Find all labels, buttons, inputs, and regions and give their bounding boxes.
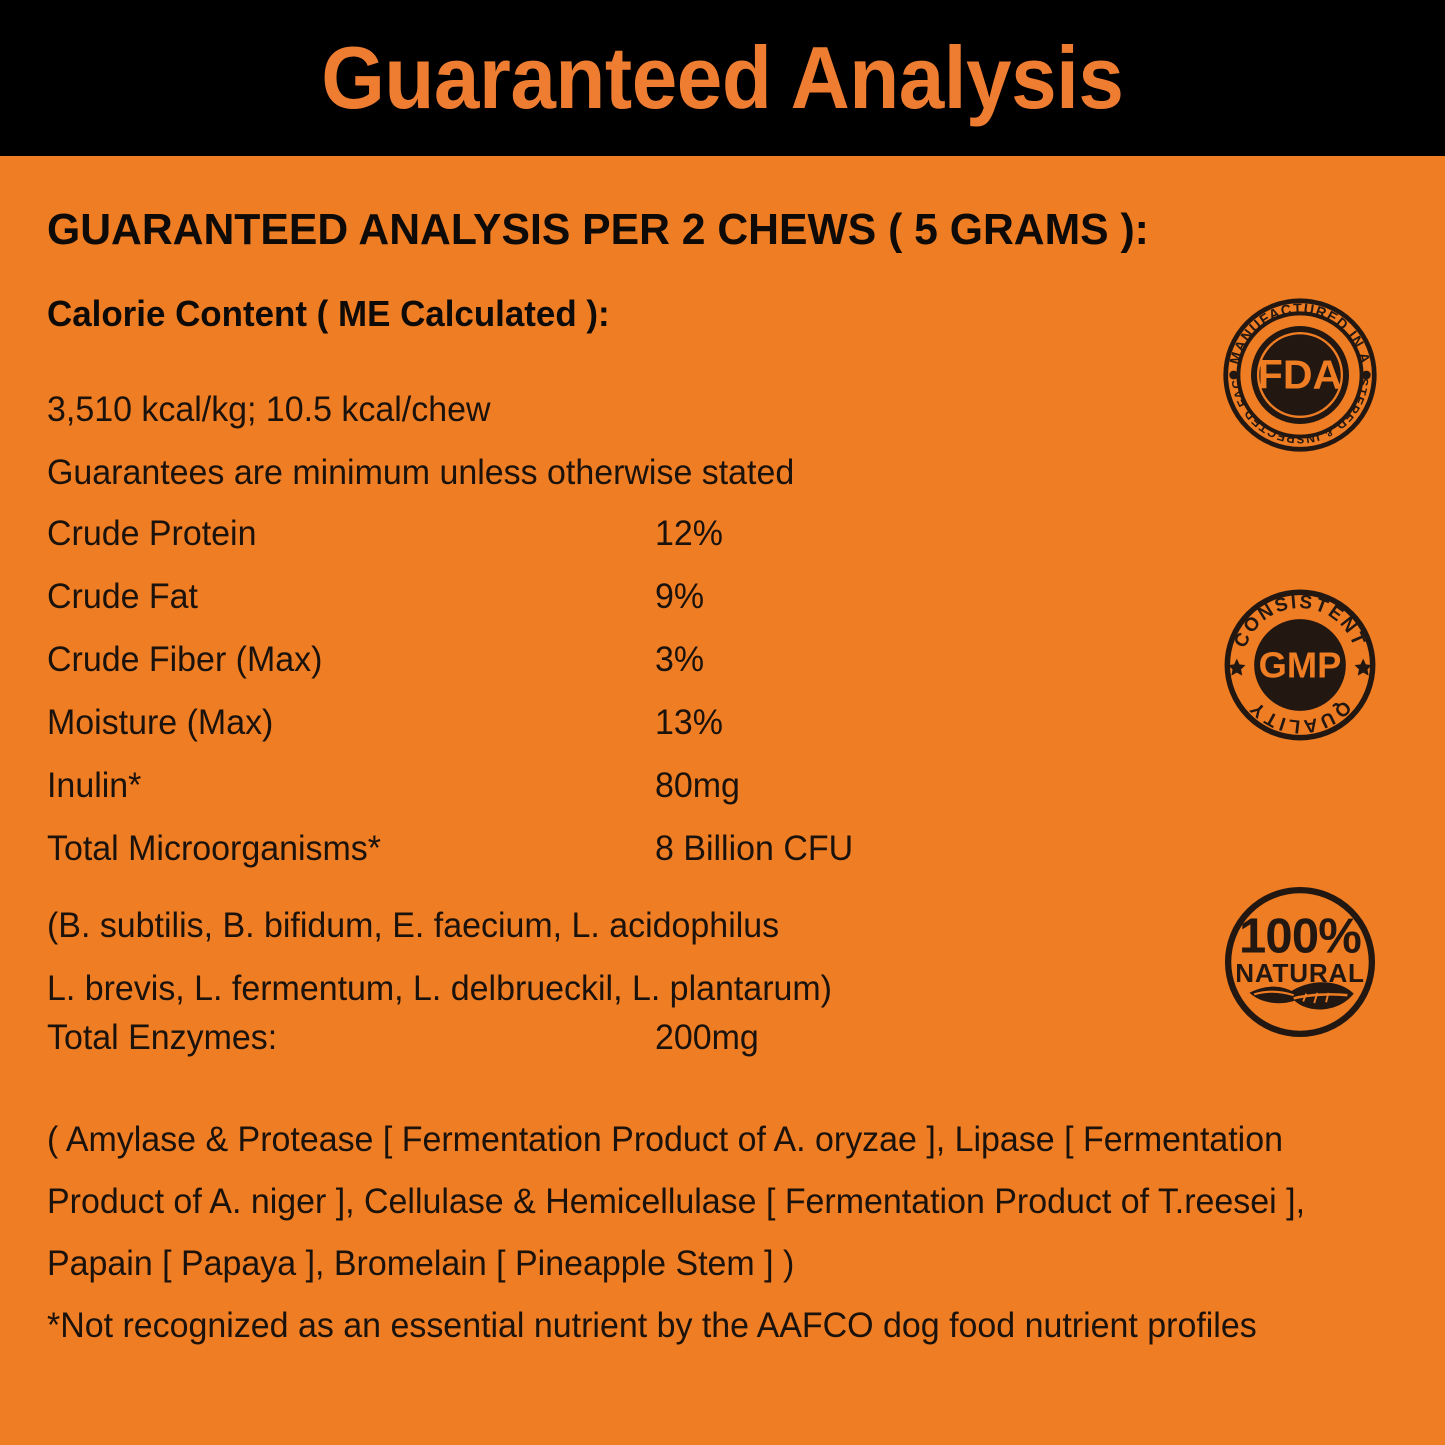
table-row: Moisture (Max) 13%	[47, 705, 1182, 768]
nutrient-value: 13%	[655, 705, 723, 740]
microorganism-strain-list: (B. subtilis, B. bifidum, E. faecium, L.…	[47, 894, 1182, 1020]
nutrient-name: Crude Protein	[47, 516, 637, 551]
fda-center-text: FDA	[1258, 351, 1342, 397]
star-icon-left	[1228, 659, 1245, 676]
strain-line: L. brevis, L. fermentum, L. delbrueckil,…	[47, 957, 1148, 1020]
label-body: GUARANTEED ANALYSIS PER 2 CHEWS ( 5 GRAM…	[0, 156, 1445, 1445]
table-row: Crude Protein 12%	[47, 516, 1182, 579]
nutrient-value: 3%	[655, 642, 704, 677]
nutrient-name: Total Enzymes:	[47, 1020, 637, 1055]
natural-percent-text: 100%	[1239, 910, 1361, 964]
table-row: Crude Fiber (Max) 3%	[47, 642, 1182, 705]
nutrient-table: Crude Protein 12% Crude Fat 9% Crude Fib…	[47, 516, 1182, 894]
nutrient-value: 8 Billion CFU	[655, 831, 853, 866]
enzyme-detail-line: ( Amylase & Protease [ Fermentation Prod…	[47, 1109, 1148, 1171]
enzyme-detail-line: Product of A. niger ], Cellulase & Hemic…	[47, 1171, 1148, 1233]
nutrient-name: Crude Fiber (Max)	[47, 642, 637, 677]
strain-line: (B. subtilis, B. bifidum, E. faecium, L.…	[47, 894, 1148, 957]
page-title: Guaranteed Analysis	[321, 34, 1123, 122]
nutrient-name: Inulin*	[47, 768, 637, 803]
nutrient-name: Moisture (Max)	[47, 705, 637, 740]
nutrient-value: 80mg	[655, 768, 740, 803]
header-bar: Guaranteed Analysis	[0, 0, 1445, 156]
natural-word-text: NATURAL	[1235, 958, 1365, 988]
enzyme-detail-paragraph: ( Amylase & Protease [ Fermentation Prod…	[47, 1109, 1182, 1357]
nutrient-value: 9%	[655, 579, 704, 614]
gmp-center-text: GMP	[1259, 645, 1342, 686]
table-row: Inulin* 80mg	[47, 768, 1182, 831]
table-row: Total Microorganisms* 8 Billion CFU	[47, 831, 1182, 894]
enzyme-detail-line: Papain [ Papaya ], Bromelain [ Pineapple…	[47, 1233, 1148, 1295]
table-row-total-enzymes: Total Enzymes: 200mg	[47, 1020, 1182, 1083]
nutrient-value: 12%	[655, 516, 723, 551]
content-column: GUARANTEED ANALYSIS PER 2 CHEWS ( 5 GRAM…	[47, 156, 1182, 1357]
natural-seal: 100% NATURAL	[1221, 883, 1379, 1041]
calorie-value-line: 3,510 kcal/kg; 10.5 kcal/chew	[47, 392, 1148, 427]
gmp-seal: CONSISTENT QUALITY GMP	[1221, 586, 1379, 744]
nutrient-name: Total Microorganisms*	[47, 831, 637, 866]
guarantee-note: Guarantees are minimum unless otherwise …	[47, 455, 1148, 490]
calorie-content-heading: Calorie Content ( ME Calculated ):	[47, 296, 1148, 332]
fda-seal: MANUFACTURED IN A REGISTERED & INSPECTED…	[1221, 296, 1379, 454]
aafco-footnote: *Not recognized as an essential nutrient…	[47, 1295, 1148, 1357]
nutrient-name: Crude Fat	[47, 579, 637, 614]
guaranteed-analysis-label: Guaranteed Analysis GUARANTEED ANALYSIS …	[0, 0, 1445, 1445]
star-icon-right	[1355, 659, 1372, 676]
guaranteed-analysis-heading: GUARANTEED ANALYSIS PER 2 CHEWS ( 5 GRAM…	[47, 208, 1148, 252]
table-row: Crude Fat 9%	[47, 579, 1182, 642]
nutrient-value: 200mg	[655, 1020, 759, 1055]
